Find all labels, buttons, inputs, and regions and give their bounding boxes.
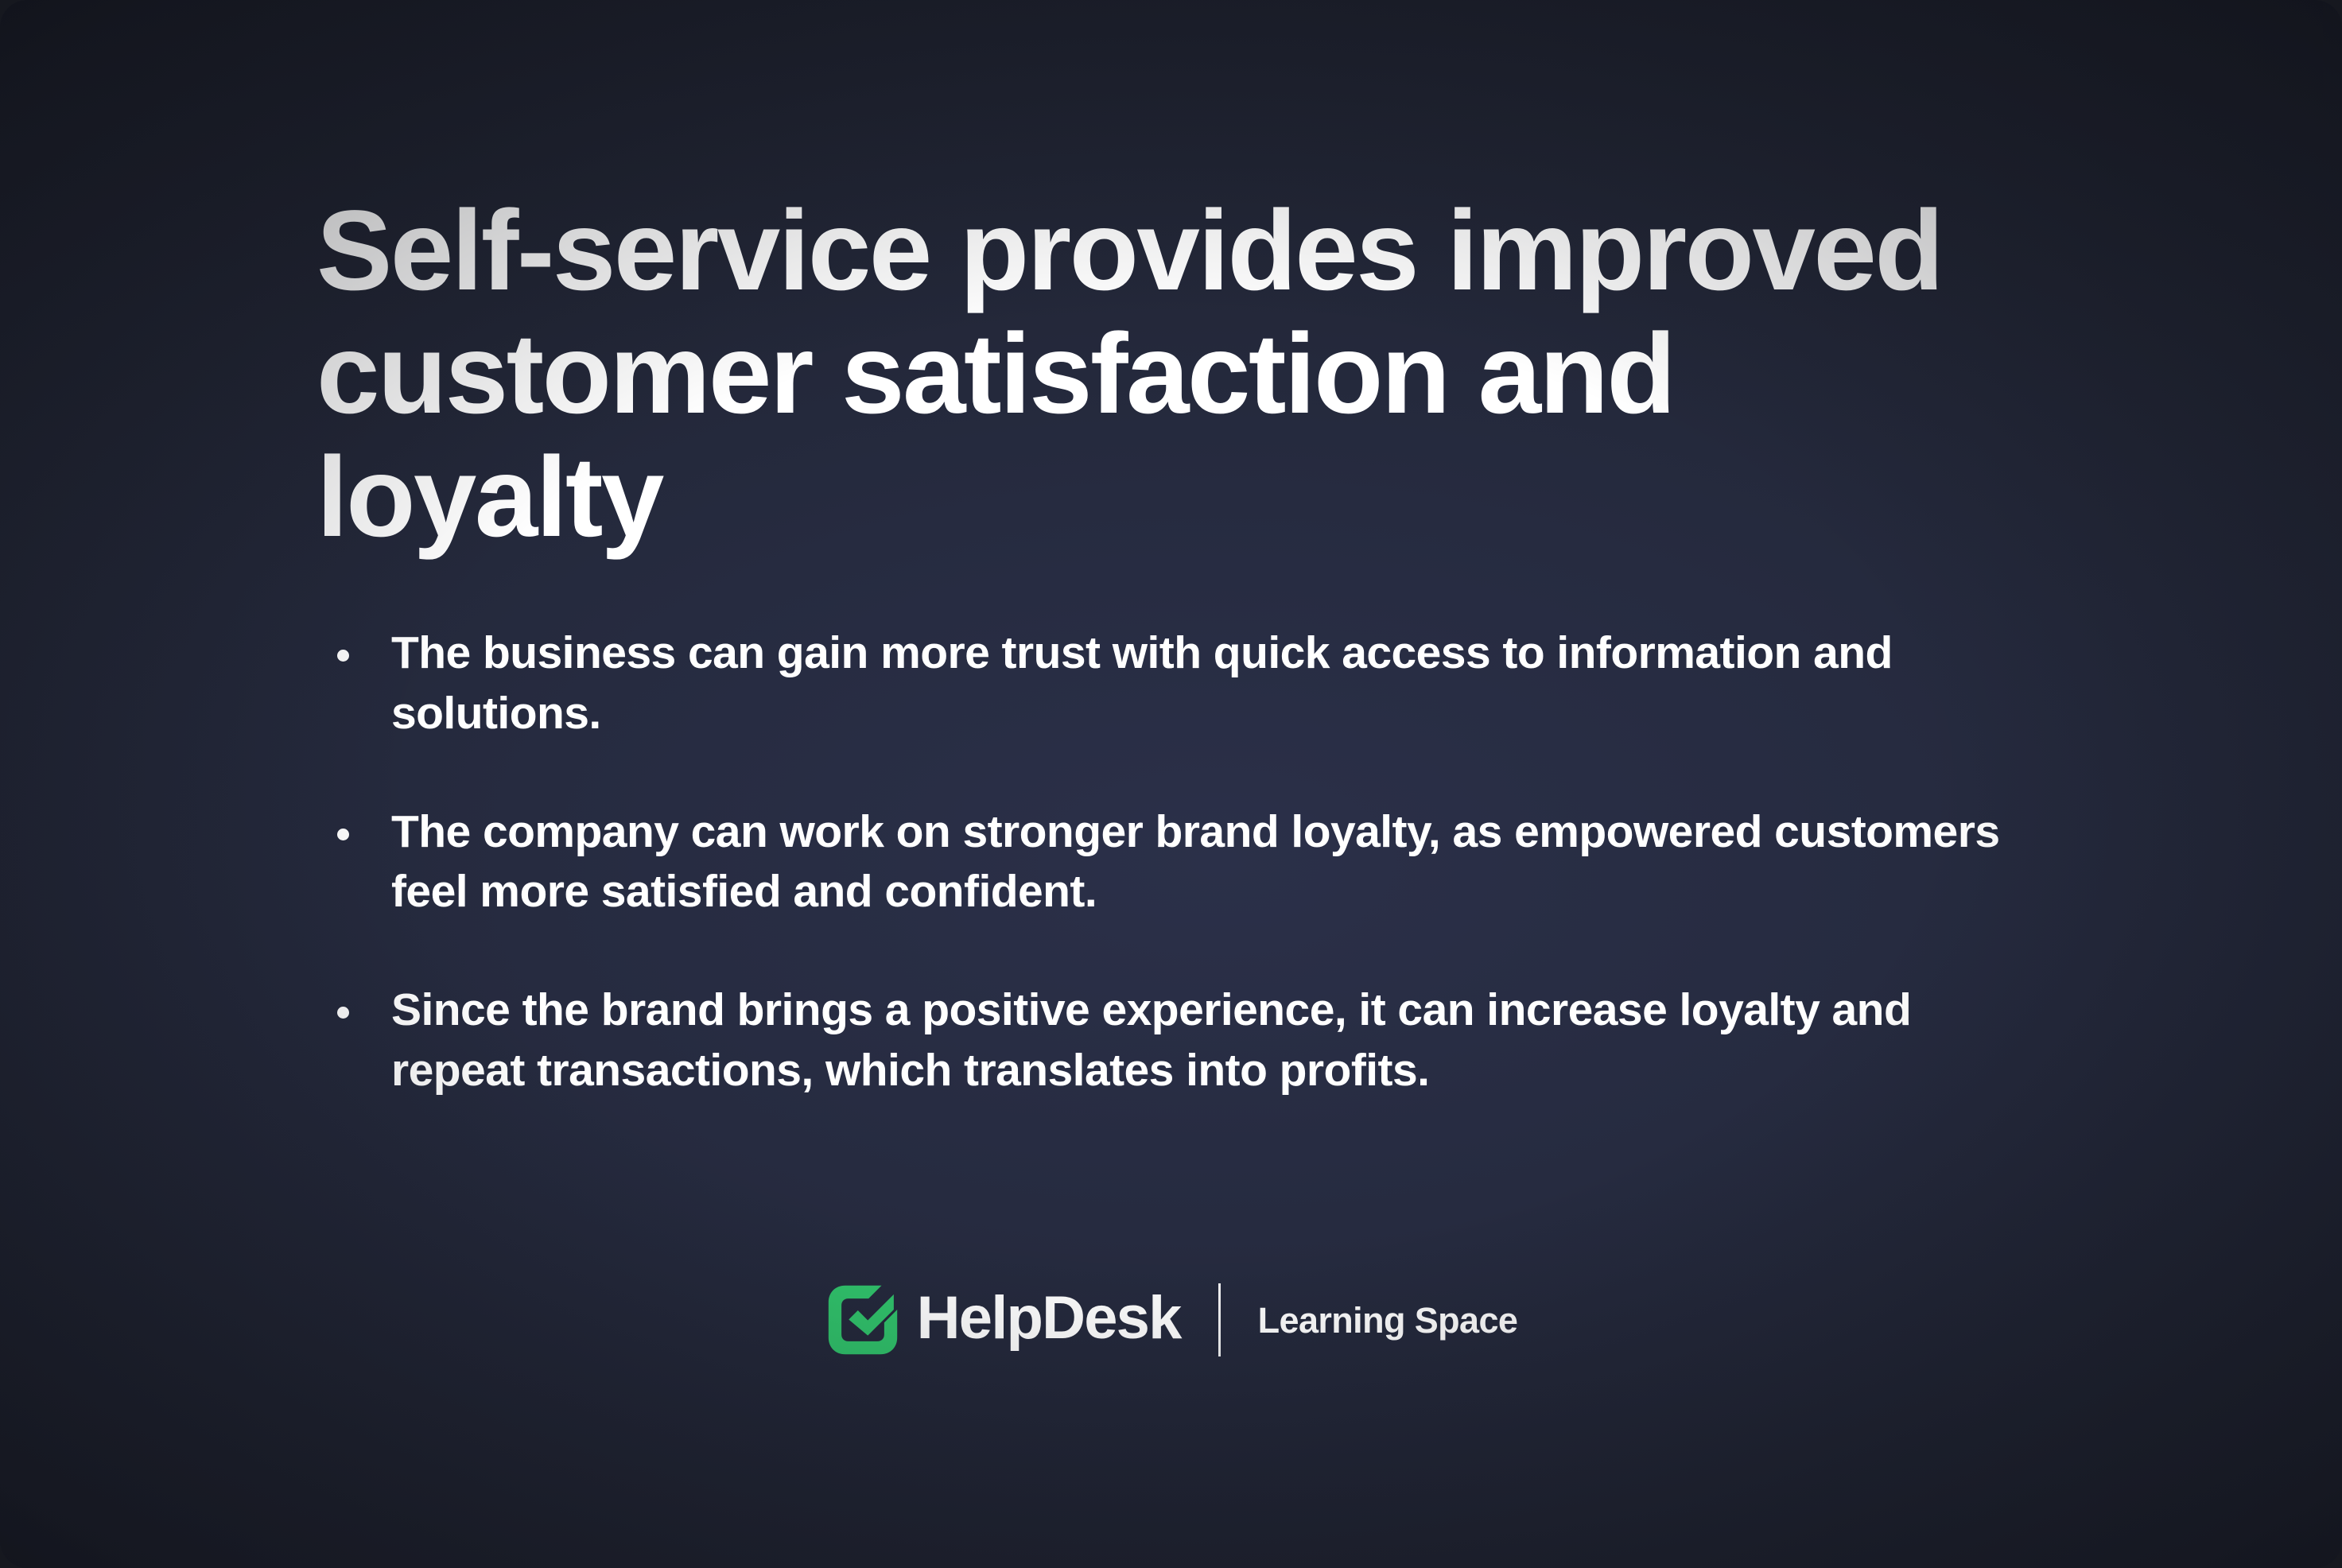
brand-name-label: HelpDesk (917, 1288, 1181, 1349)
bullet-point-icon (337, 829, 349, 840)
list-item-label: Since the brand brings a positive experi… (391, 980, 2015, 1101)
slide-content: Self-service provides improved customer … (0, 0, 2342, 1568)
bullet-point-icon (337, 650, 349, 662)
sub-brand-label: Learning Space (1258, 1302, 1518, 1338)
presentation-slide: Self-service provides improved customer … (0, 0, 2342, 1568)
list-item: The business can gain more trust with qu… (337, 623, 2015, 744)
vertical-divider (1218, 1283, 1221, 1356)
bullet-point-icon (337, 1007, 349, 1019)
list-item-label: The company can work on stronger brand l… (391, 802, 2015, 923)
helpdesk-brand: HelpDesk (825, 1282, 1181, 1358)
footer-logo-lockup: HelpDesk Learning Space (0, 1282, 2342, 1358)
page-title: Self-service provides improved customer … (317, 189, 2002, 559)
bullet-list: The business can gain more trust with qu… (337, 623, 2015, 1101)
list-item: The company can work on stronger brand l… (337, 802, 2015, 923)
list-item-label: The business can gain more trust with qu… (391, 623, 2015, 744)
helpdesk-checkbox-icon (825, 1282, 901, 1358)
list-item: Since the brand brings a positive experi… (337, 980, 2015, 1101)
